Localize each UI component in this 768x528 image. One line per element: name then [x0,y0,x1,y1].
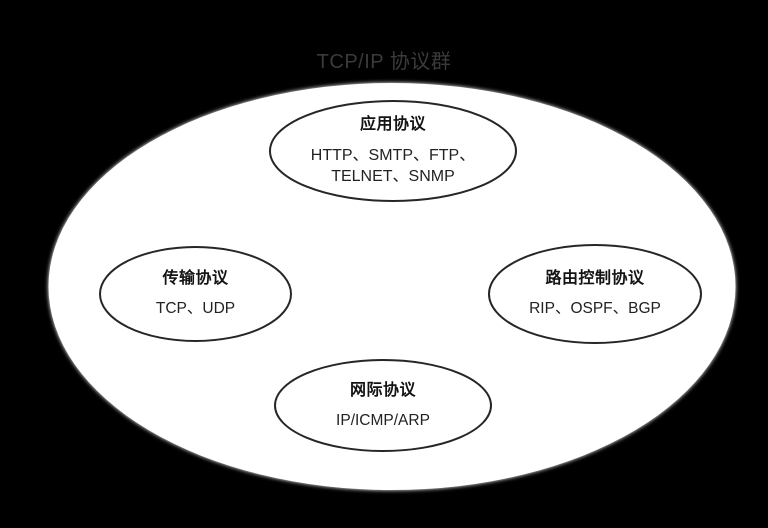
node-title: 网际协议 [350,381,416,401]
diagram-canvas: TCP/IP 协议群 应用协议 HTTP、SMTP、FTP、 TELNET、SN… [0,0,768,528]
node-title: 路由控制协议 [545,269,644,289]
node-protocol-list: IP/ICMP/ARP [336,411,430,431]
page-title: TCP/IP 协议群 [0,48,768,76]
node-routing-protocols[interactable]: 路由控制协议 RIP、OSPF、BGP [489,245,701,343]
node-transport-protocols[interactable]: 传输协议 TCP、UDP [100,247,291,341]
node-protocol-list: RIP、OSPF、BGP [529,299,661,319]
node-protocol-list: HTTP、SMTP、FTP、 TELNET、SNMP [311,145,475,187]
node-internet-protocols[interactable]: 网际协议 IP/ICMP/ARP [275,360,491,451]
node-application-protocols[interactable]: 应用协议 HTTP、SMTP、FTP、 TELNET、SNMP [270,101,516,201]
node-title: 应用协议 [360,115,426,135]
node-protocol-list: TCP、UDP [156,299,235,319]
node-title: 传输协议 [162,269,228,289]
